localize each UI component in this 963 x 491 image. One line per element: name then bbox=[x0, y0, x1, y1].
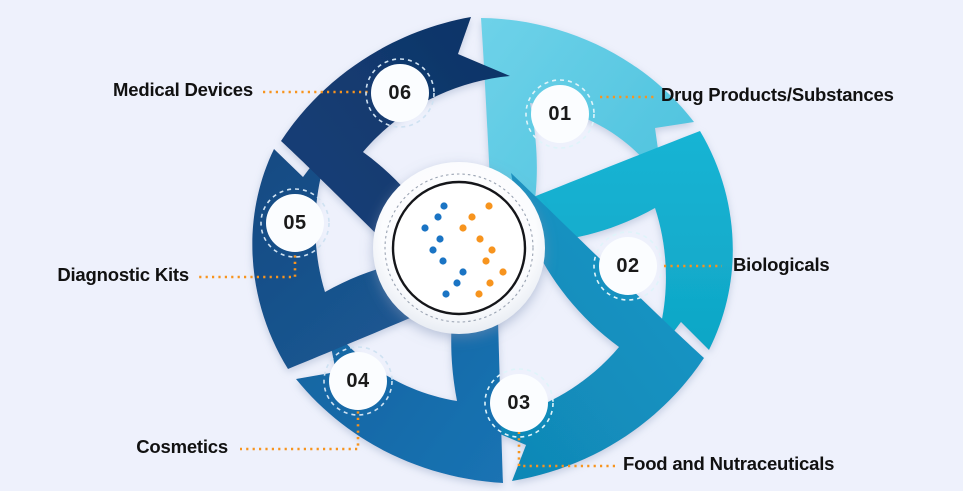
label-cosmetics[interactable]: Cosmetics bbox=[0, 438, 228, 457]
center-hub bbox=[373, 162, 545, 334]
badge-02-number: 02 bbox=[616, 255, 639, 277]
pinwheel-diagram: 01 02 03 04 05 06 bbox=[0, 0, 963, 491]
badge-05-number: 05 bbox=[283, 212, 306, 234]
badge-06-number: 06 bbox=[388, 82, 411, 104]
badge-04-number: 04 bbox=[346, 370, 370, 392]
infographic-canvas: 01 02 03 04 05 06 Drug Products/Substanc… bbox=[0, 0, 963, 491]
label-food-and-nutraceuticals[interactable]: Food and Nutraceuticals bbox=[623, 455, 834, 474]
label-medical-devices[interactable]: Medical Devices bbox=[0, 81, 253, 100]
badge-03-number: 03 bbox=[507, 392, 530, 414]
label-drug-products-substances[interactable]: Drug Products/Substances bbox=[661, 86, 894, 105]
label-diagnostic-kits[interactable]: Diagnostic Kits bbox=[0, 266, 189, 285]
label-biologicals[interactable]: Biologicals bbox=[733, 256, 830, 275]
badge-01-number: 01 bbox=[548, 103, 571, 125]
